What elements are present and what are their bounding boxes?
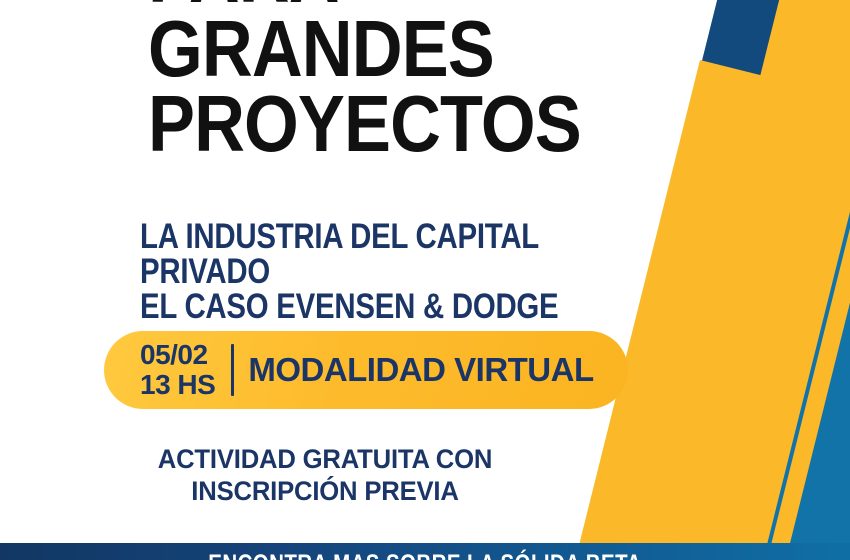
headline-line-2: PROYECTOS	[148, 87, 599, 161]
registration-note: ACTIVIDAD GRATUITA CON INSCRIPCIÓN PREVI…	[0, 444, 650, 508]
event-time: 13 HS	[140, 370, 215, 400]
poster-content: PARA GRANDES PROYECTOS LA INDUSTRIA DEL …	[0, 0, 660, 560]
event-poster: PARA GRANDES PROYECTOS LA INDUSTRIA DEL …	[0, 0, 850, 560]
page-title: PARA GRANDES PROYECTOS	[148, 0, 660, 161]
registration-note-line-1: ACTIVIDAD GRATUITA CON	[16, 444, 634, 476]
event-datetime: 05/02 13 HS	[140, 340, 215, 399]
bottom-banner-text: ENCONTRA MAS SOBRE LA SÓLIDA BETA	[77, 550, 774, 560]
subtitle: LA INDUSTRIA DEL CAPITAL PRIVADO EL CASO…	[140, 219, 660, 324]
event-date: 05/02	[140, 340, 215, 370]
subtitle-line-2: EL CASO EVENSEN & DODGE	[140, 289, 577, 324]
bottom-banner: ENCONTRA MAS SOBRE LA SÓLIDA BETA	[0, 543, 850, 560]
stripe-yellow-thin2	[654, 180, 850, 560]
event-details-badge: 05/02 13 HS MODALIDAD VIRTUAL	[104, 331, 628, 409]
subtitle-line-1: LA INDUSTRIA DEL CAPITAL PRIVADO	[140, 219, 577, 289]
headline-line-1: PARA GRANDES	[148, 0, 599, 87]
pill-divider	[231, 344, 234, 396]
registration-note-line-2: INSCRIPCIÓN PREVIA	[16, 476, 634, 508]
event-modality: MODALIDAD VIRTUAL	[248, 351, 593, 389]
